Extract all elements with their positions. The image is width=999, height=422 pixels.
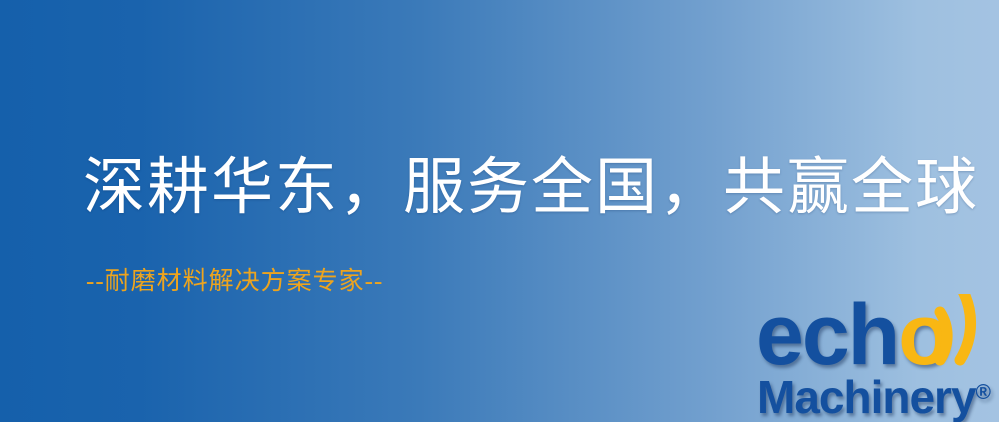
logo-mark: echo Machinery® (748, 292, 999, 422)
logo-wordmark: echo (756, 292, 949, 378)
logo-machinery-text: Machinery (757, 371, 976, 422)
registered-trademark-icon: ® (976, 381, 991, 404)
company-logo: echo Machinery® (748, 292, 999, 422)
banner-subtitle: --耐磨材料解决方案专家-- (86, 266, 383, 298)
banner-headline: 深耕华东，服务全国，共赢全球 (83, 152, 979, 224)
echo-wave-icon (926, 294, 999, 366)
logo-subtext: Machinery® (757, 370, 991, 420)
promo-banner: 深耕华东，服务全国，共赢全球 --耐磨材料解决方案专家-- echo Machi… (0, 0, 999, 422)
logo-text-ech: ech (756, 287, 898, 383)
